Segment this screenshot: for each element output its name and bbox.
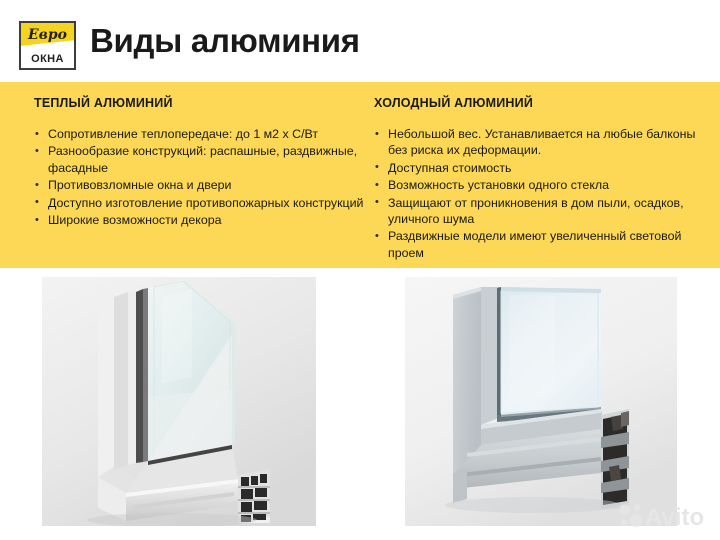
photo-row [0,268,720,540]
list-item: Широкие возможности декора [34,212,364,228]
features-band: ТЕПЛЫЙ АЛЮМИНИЙ Сопротивление теплоперед… [0,82,720,268]
page-title: Виды алюминия [90,18,360,63]
column-warm-aluminium: ТЕПЛЫЙ АЛЮМИНИЙ Сопротивление теплоперед… [34,96,364,229]
list-item: Противовзломные окна и двери [34,177,364,193]
feature-list-warm: Сопротивление теплопередаче: до 1 м2 x С… [34,126,364,228]
logo-brand-okna: ОКНА [21,49,74,68]
list-item: Сопротивление теплопередаче: до 1 м2 x С… [34,126,364,142]
column-heading-cold: ХОЛОДНЫЙ АЛЮМИНИЙ [374,96,704,110]
column-heading-warm: ТЕПЛЫЙ АЛЮМИНИЙ [34,96,364,110]
slide-header: Евро ОКНА Виды алюминия [0,0,720,82]
slide-root: Евро ОКНА Виды алюминия ТЕПЛЫЙ АЛЮМИНИЙ … [0,0,720,540]
evro-okna-logo: Евро ОКНА [19,21,76,70]
logo-brand-evro: Евро [21,25,74,45]
feature-list-cold: Небольшой вес. Устанавливается на любые … [374,126,704,261]
list-item: Возможность установки одного стекла [374,177,704,193]
list-item: Доступно изготовление противопожарных ко… [34,195,364,211]
list-item: Небольшой вес. Устанавливается на любые … [374,126,704,159]
list-item: Доступная стоимость [374,160,704,176]
column-cold-aluminium: ХОЛОДНЫЙ АЛЮМИНИЙ Небольшой вес. Устанав… [374,96,704,262]
list-item: Раздвижные модели имеют увеличенный свет… [374,228,704,261]
warm-aluminium-profile-photo [42,277,316,526]
list-item: Разнообразие конструкций: распашные, раз… [34,143,364,176]
cold-profile-illustration [405,277,677,526]
list-item: Защищают от проникновения в дом пыли, ос… [374,195,704,228]
logo-yellow-field: Евро [21,23,74,49]
warm-profile-illustration [42,277,316,526]
cold-aluminium-profile-photo [405,277,677,526]
